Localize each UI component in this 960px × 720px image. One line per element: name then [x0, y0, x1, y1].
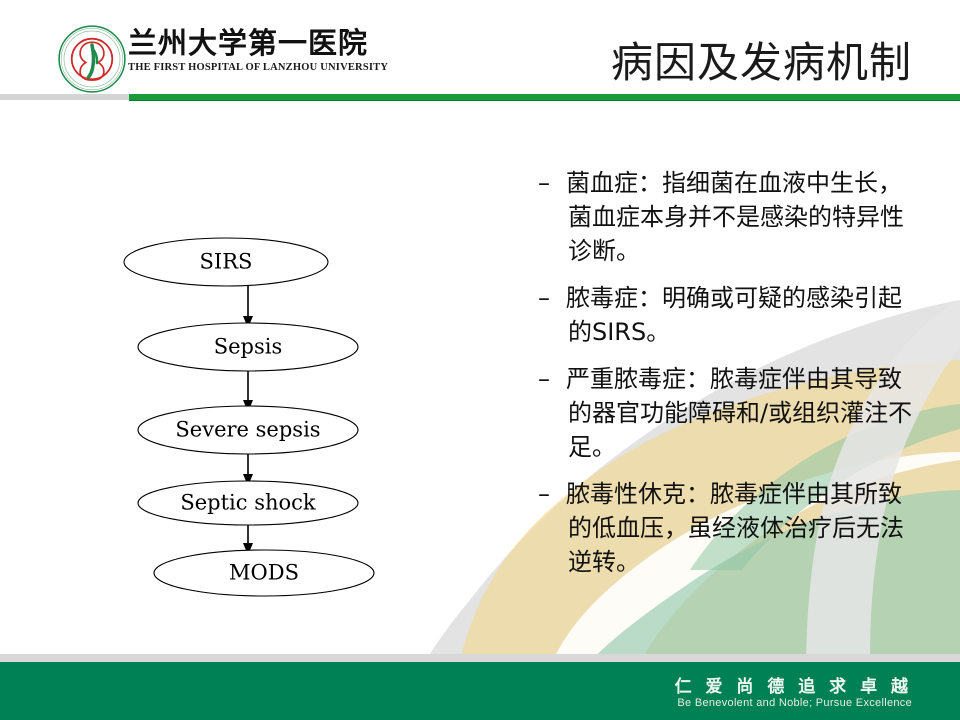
flow-node-label: Severe sepsis — [175, 418, 320, 442]
list-item-text: 脓毒症：明确或可疑的感染引起的SIRS。 — [568, 281, 918, 349]
header-rule-green-thin — [129, 100, 960, 101]
flow-node-sirs: SIRS — [124, 238, 328, 286]
header-rule-gray — [0, 94, 129, 100]
list-item: – 严重脓毒症：脓毒症伴由其导致的器官功能障碍和/或组织灌注不足。 — [538, 362, 918, 464]
sepsis-progression-flowchart: SIRS Sepsis Severe sepsis Septic shock M… — [96, 220, 426, 610]
bullet-dash-icon: – — [538, 477, 568, 511]
flow-node-label: Septic shock — [180, 491, 316, 515]
hospital-brand-block: 兰州大学第一医院 THE FIRST HOSPITAL OF LANZHOU U… — [128, 28, 388, 73]
flow-node-label: MODS — [229, 561, 299, 585]
list-item-text: 菌血症：指细菌在血液中生长，菌血症本身并不是感染的特异性诊断。 — [568, 166, 918, 268]
bullet-dash-icon: – — [538, 166, 568, 200]
definition-bullet-list: – 菌血症：指细菌在血液中生长，菌血症本身并不是感染的特异性诊断。 – 脓毒症：… — [538, 166, 918, 592]
list-item: – 脓毒症：明确或可疑的感染引起的SIRS。 — [538, 281, 918, 349]
footer-gray-strip — [0, 654, 960, 662]
bullet-dash-icon: – — [538, 362, 568, 396]
flow-node-label: Sepsis — [214, 335, 283, 359]
hospital-logo-icon — [57, 24, 127, 94]
flow-node-label: SIRS — [200, 250, 253, 274]
footer-motto-en: Be Benevolent and Noble; Pursue Excellen… — [677, 697, 912, 709]
flow-node-severe-sepsis: Severe sepsis — [138, 406, 358, 454]
flow-node-sepsis: Sepsis — [138, 323, 358, 371]
list-item-text: 严重脓毒症：脓毒症伴由其导致的器官功能障碍和/或组织灌注不足。 — [568, 362, 918, 464]
page-title: 病因及发病机制 — [611, 42, 912, 84]
hospital-name-cn: 兰州大学第一医院 — [128, 28, 388, 59]
slide-header: 兰州大学第一医院 THE FIRST HOSPITAL OF LANZHOU U… — [0, 0, 960, 96]
hospital-name-en: THE FIRST HOSPITAL OF LANZHOU UNIVERSITY — [128, 62, 388, 73]
list-item: – 脓毒性休克：脓毒症伴由其所致的低血压，虽经液体治疗后无法逆转。 — [538, 477, 918, 579]
list-item-text: 脓毒性休克：脓毒症伴由其所致的低血压，虽经液体治疗后无法逆转。 — [568, 477, 918, 579]
slide-canvas: 兰州大学第一医院 THE FIRST HOSPITAL OF LANZHOU U… — [0, 0, 960, 720]
footer-motto-cn: 仁 爱 尚 德 追 求 卓 越 — [675, 672, 912, 697]
list-item: – 菌血症：指细菌在血液中生长，菌血症本身并不是感染的特异性诊断。 — [538, 166, 918, 268]
flow-node-mods: MODS — [154, 550, 374, 596]
flow-node-septic-shock: Septic shock — [138, 481, 358, 525]
bullet-dash-icon: – — [538, 281, 568, 315]
